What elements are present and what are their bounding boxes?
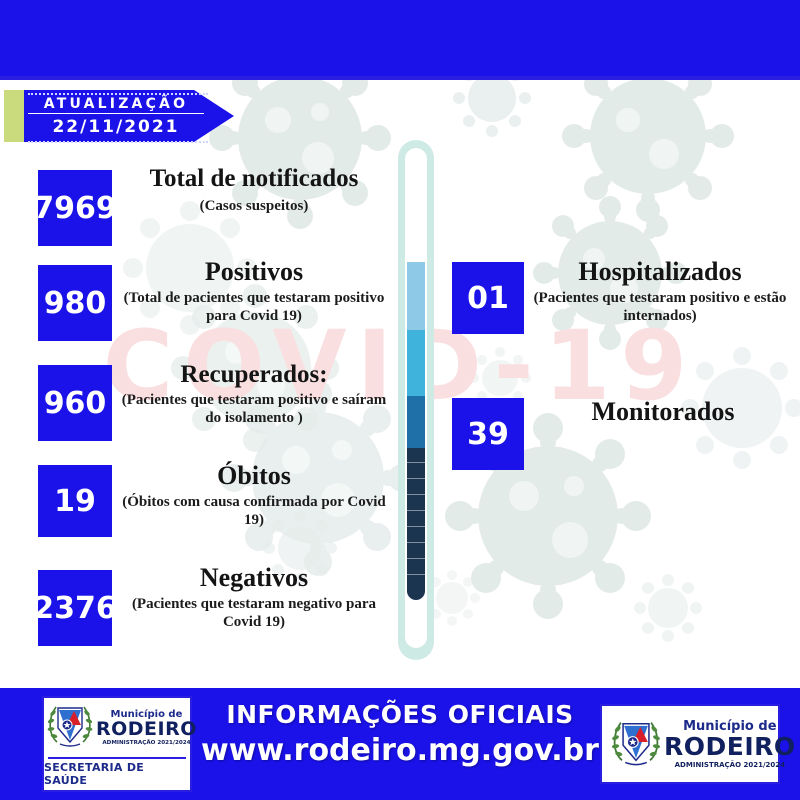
stat-title: Negativos [118, 564, 390, 591]
stat-subtitle: (Casos suspeitos) [120, 198, 388, 216]
rodeiro-coat-of-arms-icon [44, 698, 96, 757]
rodeiro-coat-of-arms-icon [608, 711, 664, 778]
logo-left-word2: RODEIRO [96, 720, 197, 740]
stat-value-box: 19 [38, 465, 112, 537]
thermometer-segment-0 [407, 262, 425, 330]
stat-title: Recuperados: [118, 362, 390, 388]
stat-value: 39 [467, 417, 509, 452]
thermometer-tick [407, 462, 425, 463]
footer-website-url[interactable]: www.rodeiro.mg.gov.br [190, 733, 610, 768]
stat-value: 7969 [33, 191, 117, 226]
thermometer-tick [407, 494, 425, 495]
stat-value-box: 7969 [38, 170, 112, 246]
logo-right-word2: RODEIRO [664, 734, 796, 760]
thermometer-inner-track [405, 148, 427, 648]
thermometer-tick [407, 510, 425, 511]
logo-secretaria-saude: Município de RODEIRO ADMINISTRAÇÃO 2021/… [42, 696, 192, 792]
thermometer-segment-2 [407, 396, 425, 448]
logo-right-top: Município de RODEIRO ADMINISTRAÇÃO 2021/… [602, 706, 778, 782]
stat-value-box: 01 [452, 262, 524, 334]
logo-left-caption: SECRETARIA DE SAÚDE [44, 759, 190, 790]
covid-bulletin-poster: COVID-19 Boletim Coronavírus ATUALIZAÇÃO… [0, 0, 800, 800]
stat-subtitle: (Pacientes que testaram positivo e saíra… [118, 392, 390, 427]
stat-subtitle: (Total de pacientes que testaram positiv… [118, 290, 390, 325]
stat-subtitle: (Óbitos com causa confirmada por Covid 1… [118, 494, 390, 529]
stat-value-box: 39 [452, 398, 524, 470]
stat-subtitle: (Pacientes que testaram negativo para Co… [118, 596, 390, 631]
stat-title: Positivos [118, 258, 390, 285]
thermometer-tick [407, 574, 425, 575]
stat-title: Total de notificados [120, 166, 388, 192]
header-underline [0, 76, 800, 80]
stat-value-box: 960 [38, 365, 112, 441]
logo-right-wordmark: Município de RODEIRO ADMINISTRAÇÃO 2021/… [664, 719, 799, 768]
thermometer-graphic [398, 140, 434, 660]
logo-left-word3: ADMINISTRAÇÃO 2021/2024 [96, 740, 197, 746]
thermometer-segment-3 [407, 448, 425, 588]
stat-title: Monitorados [538, 398, 788, 425]
logo-right-word3: ADMINISTRAÇÃO 2021/2024 [664, 761, 796, 769]
stat-value: 960 [44, 386, 107, 421]
thermometer-tick [407, 558, 425, 559]
logo-municipio-rodeiro: Município de RODEIRO ADMINISTRAÇÃO 2021/… [600, 704, 780, 784]
thermometer-fill [407, 152, 425, 644]
thermometer-tick [407, 478, 425, 479]
stat-value: 980 [44, 286, 107, 321]
thermometer-segment-1 [407, 330, 425, 396]
stat-subtitle: (Pacientes que testaram positivo e estão… [532, 290, 788, 325]
stat-value: 01 [467, 281, 509, 316]
logo-left-top: Município de RODEIRO ADMINISTRAÇÃO 2021/… [44, 698, 190, 757]
stat-value-box: 2376 [38, 570, 112, 646]
stat-value: 2376 [33, 591, 117, 626]
update-date: 22/11/2021 [28, 117, 204, 137]
footer-info: INFORMAÇÕES OFICIAIS www.rodeiro.mg.gov.… [190, 700, 610, 768]
update-label: ATUALIZAÇÃO [28, 96, 204, 114]
thermometer-bulb-cap [407, 588, 425, 600]
stat-value-box: 980 [38, 265, 112, 341]
logo-left-wordmark: Município de RODEIRO ADMINISTRAÇÃO 2021/… [96, 709, 200, 746]
stat-value: 19 [54, 484, 96, 519]
thermometer-tick [407, 526, 425, 527]
footer-official-info-label: INFORMAÇÕES OFICIAIS [190, 700, 610, 729]
stat-title: Hospitalizados [532, 258, 788, 285]
header-banner [0, 0, 800, 76]
stat-title: Óbitos [118, 462, 390, 489]
thermometer-tick [407, 542, 425, 543]
